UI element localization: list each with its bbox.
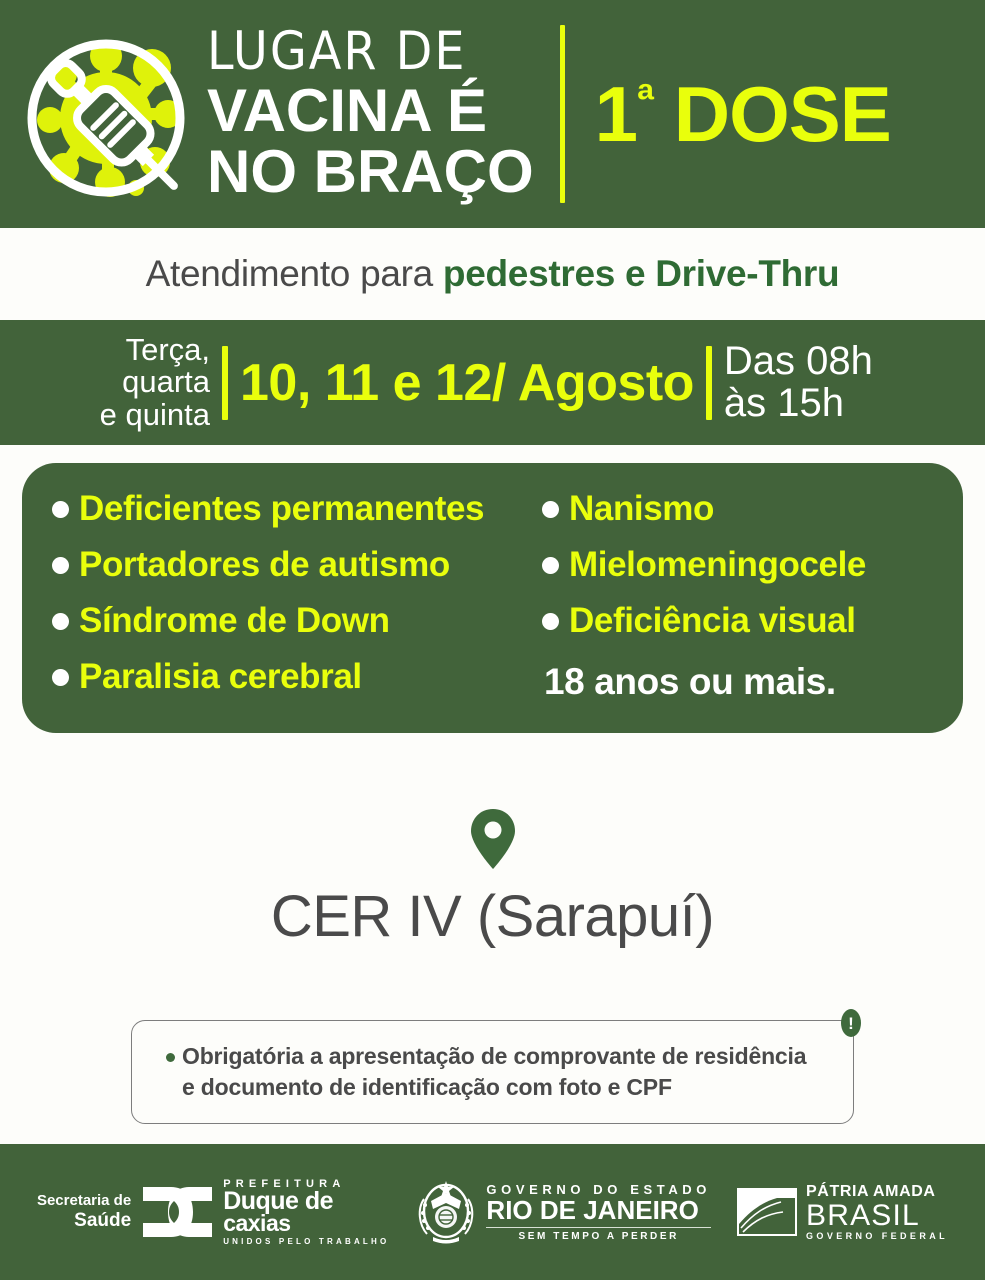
- schedule-divider-right: [706, 346, 712, 420]
- health-dept-line-2: Saúde: [37, 1210, 131, 1233]
- dose-ordinal: ª: [637, 77, 653, 123]
- eligibility-label: Paralisia cerebral: [79, 657, 362, 697]
- weekday-line-1: Terça,: [92, 334, 210, 366]
- city-name-line-2: caxias: [223, 1213, 389, 1235]
- bullet-icon: [52, 669, 69, 686]
- state-name: RIO DE JANEIRO: [486, 1197, 711, 1224]
- subtitle-plain: Atendimento para: [146, 253, 443, 294]
- exclamation-icon: !: [841, 1009, 861, 1037]
- location-block: CER IV (Sarapuí): [0, 807, 985, 950]
- headline-line-1: LUGAR DE: [207, 26, 534, 78]
- schedule-dates: 10, 11 e 12/ Agosto: [240, 353, 694, 413]
- subtitle-text: Atendimento para pedestres e Drive-Thru: [146, 253, 840, 295]
- schedule-band: Terça, quarta e quinta 10, 11 e 12/ Agos…: [0, 320, 985, 445]
- state-rule-divider: [486, 1227, 711, 1229]
- list-item: Nanismo: [542, 489, 933, 529]
- planalto-palace-icon: [737, 1188, 797, 1236]
- hours-line-1: Das 08h: [724, 341, 873, 382]
- location-name: CER IV (Sarapuí): [271, 883, 714, 950]
- headline-line-2: VACINA É: [207, 80, 534, 141]
- map-pin-icon: [469, 807, 517, 871]
- state-crest-icon: [415, 1179, 477, 1245]
- city-logo-block: Secretaria de Saúde PREFEITURA Duque de …: [37, 1178, 389, 1246]
- schedule-hours: Das 08h às 15h: [724, 341, 873, 423]
- dose-label: 1ª DOSE: [595, 75, 891, 153]
- hours-line-2: às 15h: [724, 383, 873, 424]
- state-tagline: SEM TEMPO A PERDER: [486, 1231, 711, 1242]
- header-divider: [560, 25, 565, 203]
- bullet-icon: [52, 501, 69, 518]
- federal-line-3: GOVERNO FEDERAL: [806, 1231, 948, 1241]
- exclamation-glyph: !: [848, 1015, 854, 1032]
- list-item: Paralisia cerebral: [52, 657, 542, 697]
- eligibility-column-left: Deficientes permanentes Portadores de au…: [52, 489, 542, 703]
- syringe-virus-icon: [18, 22, 193, 207]
- federal-logo-block: PÁTRIA AMADA BRASIL GOVERNO FEDERAL: [737, 1183, 948, 1242]
- bullet-icon: [52, 557, 69, 574]
- notice-line-2: e documento de identificação com foto e …: [182, 1072, 806, 1103]
- bullet-icon: [542, 613, 559, 630]
- notice-text: Obrigatória a apresentação de comprovant…: [182, 1041, 806, 1103]
- state-logo-block: GOVERNO DO ESTADO RIO DE JANEIRO SEM TEM…: [415, 1179, 711, 1245]
- eligibility-label: Síndrome de Down: [79, 601, 390, 641]
- headline-block: LUGAR DE VACINA É NO BRAÇO: [207, 26, 534, 202]
- dc-monogram-icon: [141, 1185, 214, 1239]
- bullet-icon: [542, 557, 559, 574]
- eligibility-label: Nanismo: [569, 489, 714, 529]
- dose-word: DOSE: [674, 75, 891, 153]
- federal-line-1: PÁTRIA AMADA: [806, 1183, 948, 1201]
- federal-line-2: BRASIL: [806, 1201, 948, 1232]
- weekdays-block: Terça, quarta e quinta: [92, 334, 210, 431]
- notice-line-1: Obrigatória a apresentação de comprovant…: [182, 1041, 806, 1072]
- bullet-icon: [166, 1053, 175, 1062]
- bullet-icon: [52, 613, 69, 630]
- requirements-notice: ! Obrigatória a apresentação de comprova…: [131, 1020, 854, 1124]
- health-dept-line-1: Secretaria de: [37, 1192, 131, 1210]
- city-name-block: PREFEITURA Duque de caxias UNIDOS PELO T…: [223, 1178, 389, 1246]
- weekday-line-3: e quinta: [92, 399, 210, 431]
- list-item: Deficientes permanentes: [52, 489, 542, 529]
- eligibility-card: Deficientes permanentes Portadores de au…: [22, 463, 963, 733]
- notice-row: Obrigatória a apresentação de comprovant…: [166, 1041, 827, 1103]
- list-item: Portadores de autismo: [52, 545, 542, 585]
- eligibility-label: Mielomeningocele: [569, 545, 866, 585]
- age-requirement: 18 anos ou mais.: [544, 661, 933, 703]
- poster-footer: Secretaria de Saúde PREFEITURA Duque de …: [0, 1144, 985, 1280]
- notice-wrapper: ! Obrigatória a apresentação de comprova…: [0, 1020, 985, 1124]
- poster-header: LUGAR DE VACINA É NO BRAÇO 1ª DOSE: [0, 0, 985, 228]
- eligibility-label: Deficiência visual: [569, 601, 856, 641]
- eligibility-label: Deficientes permanentes: [79, 489, 484, 529]
- health-department-label: Secretaria de Saúde: [37, 1192, 131, 1233]
- weekday-line-2: quarta: [92, 366, 210, 398]
- list-item: Deficiência visual: [542, 601, 933, 641]
- list-item: Mielomeningocele: [542, 545, 933, 585]
- eligibility-column-right: Nanismo Mielomeningocele Deficiência vis…: [542, 489, 933, 703]
- city-tagline: UNIDOS PELO TRABALHO: [223, 1237, 389, 1246]
- subtitle-band: Atendimento para pedestres e Drive-Thru: [0, 228, 985, 320]
- vaccination-poster: LUGAR DE VACINA É NO BRAÇO 1ª DOSE Atend…: [0, 0, 985, 1280]
- subtitle-bold: pedestres e Drive-Thru: [443, 253, 839, 294]
- bullet-icon: [542, 501, 559, 518]
- schedule-divider-left: [222, 346, 228, 420]
- state-name-block: GOVERNO DO ESTADO RIO DE JANEIRO SEM TEM…: [486, 1182, 711, 1243]
- eligibility-label: Portadores de autismo: [79, 545, 450, 585]
- federal-name-block: PÁTRIA AMADA BRASIL GOVERNO FEDERAL: [806, 1183, 948, 1242]
- list-item: Síndrome de Down: [52, 601, 542, 641]
- dose-number: 1: [595, 75, 637, 153]
- headline-line-3: NO BRAÇO: [207, 141, 534, 202]
